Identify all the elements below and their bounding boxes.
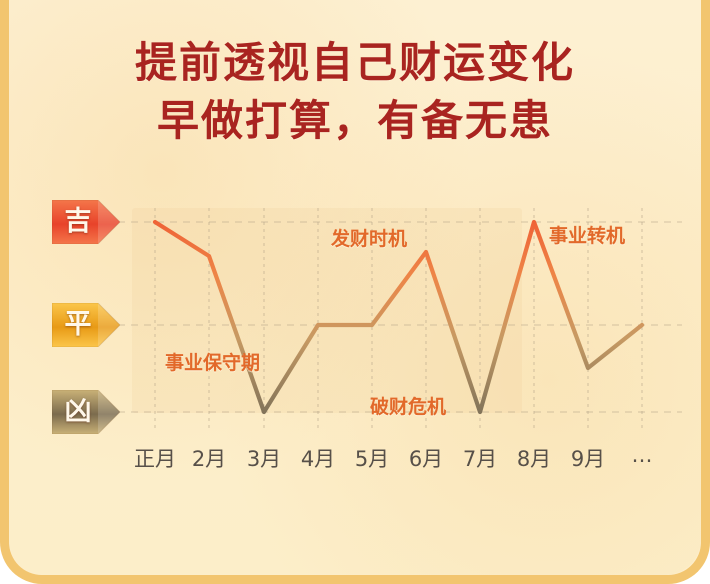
badge-level-bad: 凶	[52, 390, 120, 434]
infographic-root: 提前透视自己财运变化 早做打算，有备无患 吉平凶 事业保守期发财时机破财危机事业…	[0, 0, 710, 584]
x-axis-label: 9月	[571, 443, 605, 473]
chart-annotation: 破财危机	[370, 392, 446, 419]
title-line-2: 早做打算，有备无患	[0, 92, 710, 150]
x-axis-label: 4月	[301, 443, 335, 473]
x-axis-label: 正月	[134, 443, 176, 473]
badge-label: 吉	[52, 200, 104, 244]
x-axis-label: 5月	[355, 443, 389, 473]
x-axis-label: 8月	[517, 443, 551, 473]
badge-level-good: 吉	[52, 200, 120, 244]
title-line-1: 提前透视自己财运变化	[0, 34, 710, 92]
chart-annotation: 发财时机	[331, 224, 407, 251]
x-axis-label: 3月	[247, 443, 281, 473]
chart-annotation: 事业保守期	[165, 348, 260, 375]
badge-label: 凶	[52, 390, 104, 434]
x-axis-label: …	[632, 443, 653, 467]
x-axis-label-group: 正月2月3月4月5月6月7月8月9月…	[0, 443, 710, 477]
badge-level-neutral: 平	[52, 303, 120, 347]
x-axis-label: 2月	[192, 443, 226, 473]
x-axis-label: 7月	[463, 443, 497, 473]
chart-annotation: 事业转机	[549, 221, 625, 248]
x-axis-label: 6月	[409, 443, 443, 473]
badge-label: 平	[52, 303, 104, 347]
page-title: 提前透视自己财运变化 早做打算，有备无患	[0, 34, 710, 150]
